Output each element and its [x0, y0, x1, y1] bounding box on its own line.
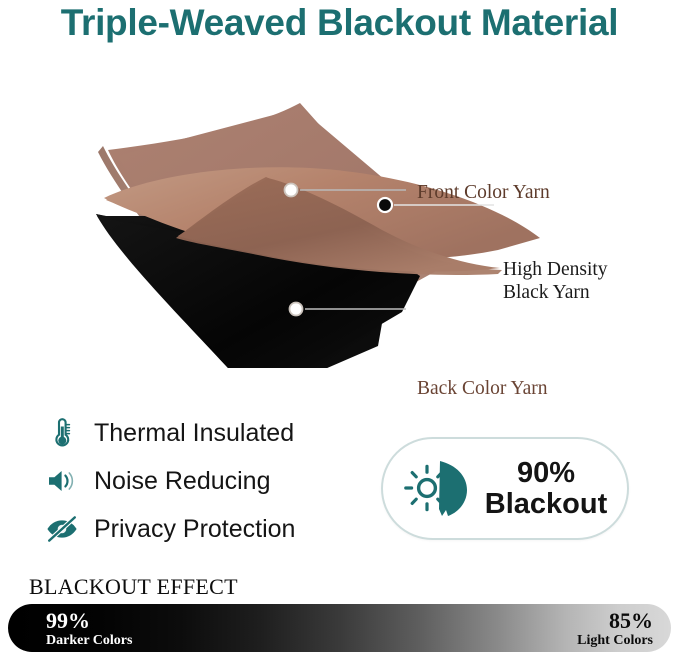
fabric-layer-diagram: Front Color Yarn High Density Black Yarn…	[0, 78, 679, 368]
leader-dot-back	[290, 303, 303, 316]
bar-left-percent: 99%	[46, 610, 132, 632]
bar-left-label: Darker Colors	[46, 632, 132, 649]
feature-item-thermal-insulated: Thermal Insulated	[44, 410, 374, 456]
bar-left-stat: 99% Darker Colors	[46, 610, 132, 649]
leader-dot-front	[285, 184, 298, 197]
speaker-sound-icon	[44, 463, 80, 499]
feature-list: Thermal Insulated Noise Reducing	[44, 410, 374, 554]
page-title: Triple-Weaved Blackout Material	[0, 2, 679, 44]
sun-behind-curtain-icon	[403, 452, 477, 526]
infographic-page: Triple-Weaved Blackout Material	[0, 0, 679, 656]
thermometer-icon	[44, 415, 80, 451]
blackout-badge: 90% Blackout	[381, 437, 629, 540]
label-back-color-yarn: Back Color Yarn	[417, 377, 548, 400]
leader-dot-black	[378, 198, 392, 212]
eye-slash-icon	[44, 511, 80, 547]
blackout-effect-heading: BLACKOUT EFFECT	[29, 574, 238, 600]
label-front-color-yarn: Front Color Yarn	[417, 181, 550, 204]
feature-item-privacy-protection: Privacy Protection	[44, 506, 374, 552]
feature-label: Privacy Protection	[94, 515, 295, 544]
feature-item-noise-reducing: Noise Reducing	[44, 458, 374, 504]
feature-label: Noise Reducing	[94, 467, 271, 496]
bar-right-label: Light Colors	[577, 632, 653, 649]
label-high-density-black-yarn: High Density Black Yarn	[503, 258, 653, 304]
blackout-percent: 90%	[485, 458, 607, 489]
feature-label: Thermal Insulated	[94, 419, 294, 448]
bar-right-percent: 85%	[577, 610, 653, 632]
blackout-badge-text: 90% Blackout	[485, 458, 607, 519]
bar-right-stat: 85% Light Colors	[577, 610, 653, 649]
blackout-label: Blackout	[485, 489, 607, 520]
